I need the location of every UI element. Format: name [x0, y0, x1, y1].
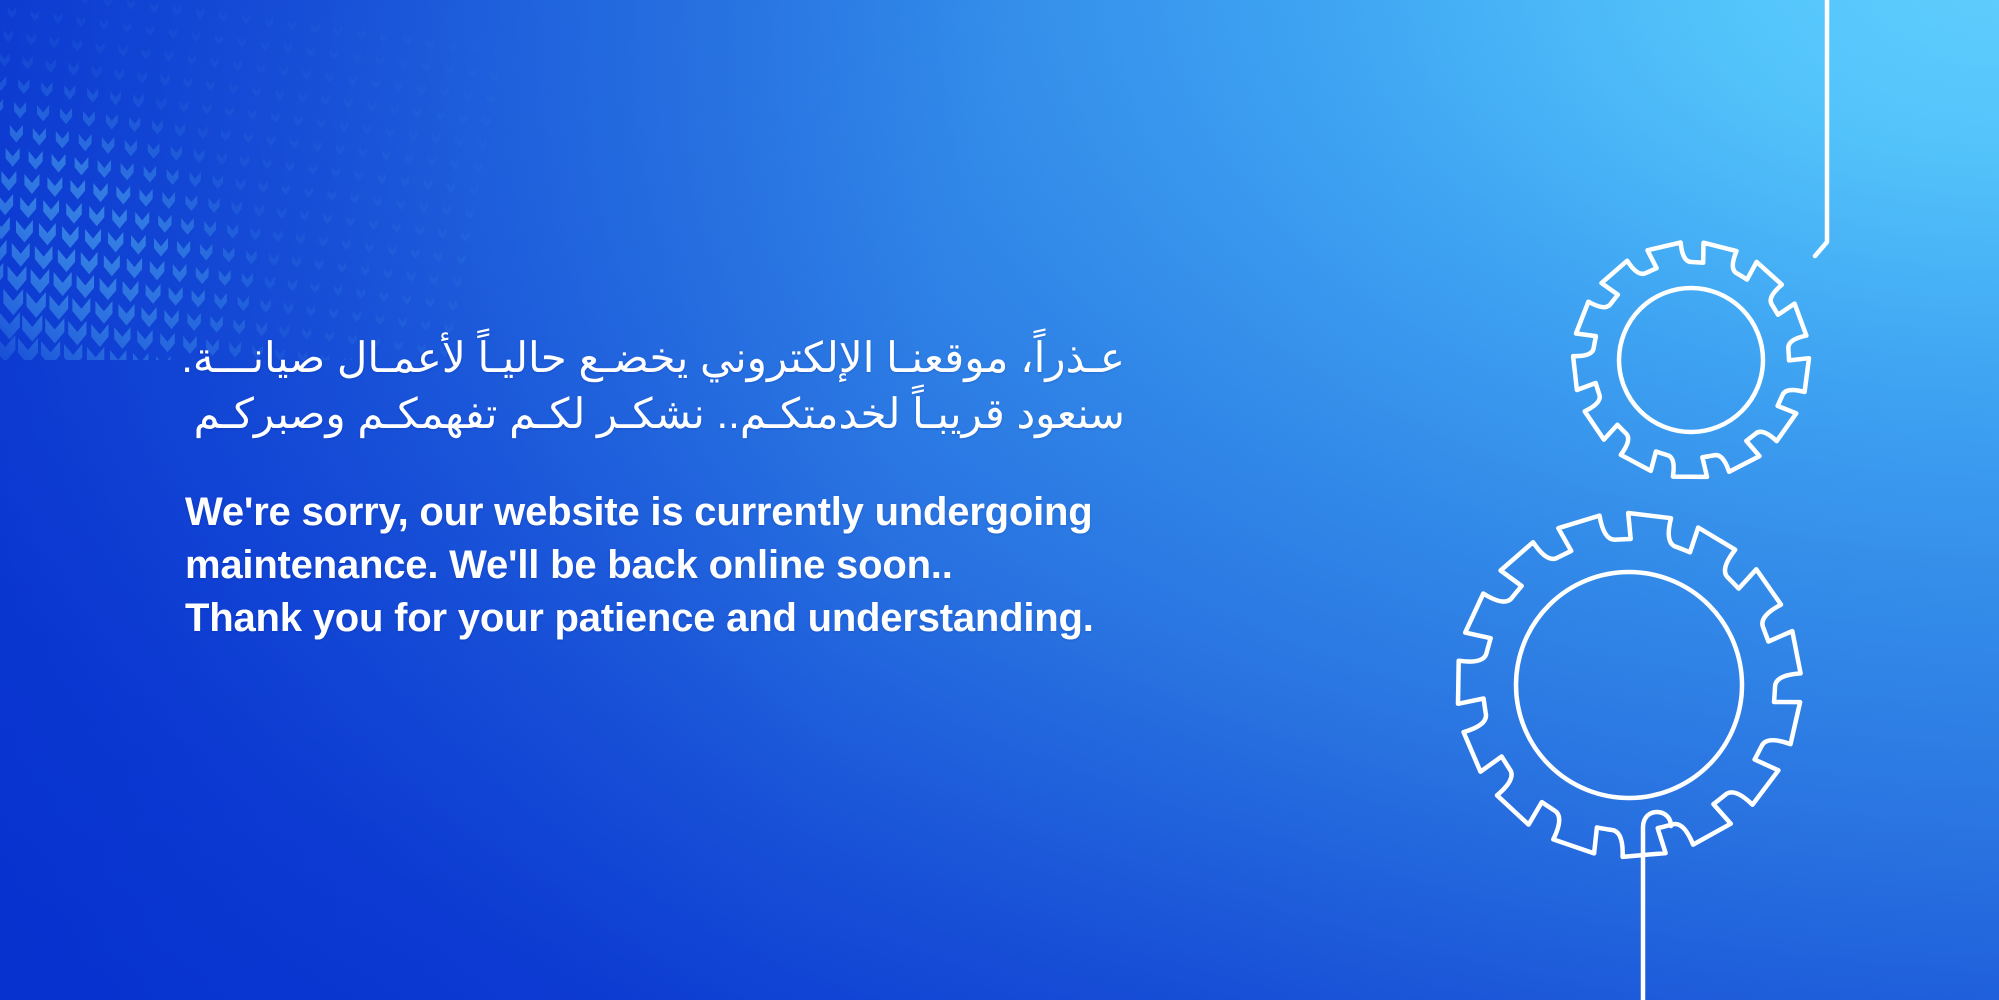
arabic-line-1: عـذراً، موقعنـا الإلكتروني يخضـع حاليـاً…: [185, 330, 1125, 386]
arabic-message: عـذراً، موقعنـا الإلكتروني يخضـع حاليـاً…: [185, 330, 1125, 442]
maintenance-page: عـذراً، موقعنـا الإلكتروني يخضـع حاليـاً…: [0, 0, 1999, 1000]
english-message: We're sorry, our website is currently un…: [185, 486, 1295, 645]
english-line-3: Thank you for your patience and understa…: [185, 592, 1295, 645]
arabic-line-2: سنعود قريبـاً لخدمتكـم.. نشكـر لكـم تفهم…: [185, 386, 1125, 442]
english-line-1: We're sorry, our website is currently un…: [185, 486, 1295, 539]
message-block: عـذراً، موقعنـا الإلكتروني يخضـع حاليـاً…: [185, 330, 1295, 645]
english-line-2: maintenance. We'll be back online soon..: [185, 539, 1295, 592]
